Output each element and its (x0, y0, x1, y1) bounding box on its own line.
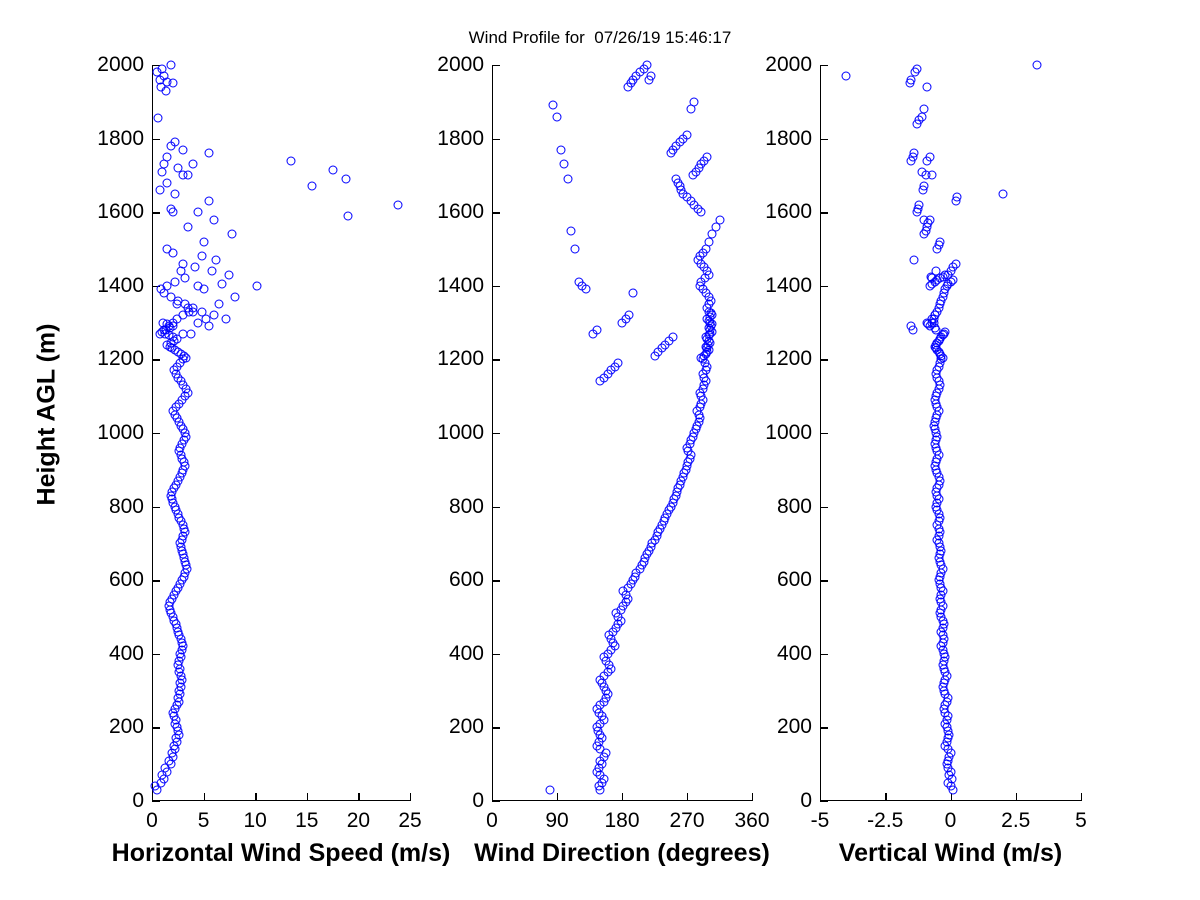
y-tick-label-horizontal-wind-speed-10: 2000 (82, 53, 144, 77)
data-point (178, 145, 187, 154)
y-tick-label-horizontal-wind-speed-4: 800 (82, 495, 144, 519)
y-tick-label-vertical-wind-9: 1800 (750, 127, 812, 151)
x-axis-label-vertical-wind: Vertical Wind (m/s) (839, 839, 1062, 868)
y-tick-label-wind-direction-9: 1800 (422, 127, 484, 151)
data-point (194, 281, 203, 290)
x-tick-label-horizontal-wind-speed-3: 15 (295, 809, 318, 833)
data-point (207, 267, 216, 276)
y-axis-label: Height AGL (m) (33, 285, 62, 545)
data-point (307, 182, 316, 191)
y-tick-label-horizontal-wind-speed-5: 1000 (82, 421, 144, 445)
data-point (920, 182, 929, 191)
y-tick-label-horizontal-wind-speed-1: 200 (82, 715, 144, 739)
x-tick-label-vertical-wind-2: 0 (945, 809, 957, 833)
data-point (163, 245, 172, 254)
data-point (163, 178, 172, 187)
y-tick-label-vertical-wind-10: 2000 (750, 53, 812, 77)
y-tick-label-horizontal-wind-speed-0: 0 (82, 789, 144, 813)
data-point (915, 200, 924, 209)
x-tick-label-vertical-wind-4: 5 (1075, 809, 1087, 833)
data-point (344, 211, 353, 220)
x-tick-label-horizontal-wind-speed-0: 0 (146, 809, 158, 833)
data-point (154, 114, 163, 123)
y-tick-vertical-wind-0 (820, 801, 828, 802)
y-tick-label-vertical-wind-8: 1600 (750, 200, 812, 224)
x-tick-label-horizontal-wind-speed-5: 25 (398, 809, 421, 833)
data-point (953, 193, 962, 202)
y-tick-label-vertical-wind-7: 1400 (750, 274, 812, 298)
x-tick-label-vertical-wind-1: -2.5 (867, 809, 903, 833)
data-point (158, 167, 167, 176)
data-point (553, 112, 562, 121)
data-point (191, 263, 200, 272)
data-point (287, 156, 296, 165)
data-point (228, 230, 237, 239)
x-tick-label-vertical-wind-0: -5 (811, 809, 830, 833)
data-point (912, 64, 921, 73)
y-tick-label-horizontal-wind-speed-8: 1600 (82, 200, 144, 224)
x-axis-label-horizontal-wind-speed: Horizontal Wind Speed (m/s) (112, 839, 451, 868)
data-point (209, 311, 218, 320)
data-point (951, 259, 960, 268)
data-point (328, 165, 337, 174)
data-point (625, 311, 634, 320)
data-point (189, 160, 198, 169)
data-point (571, 245, 580, 254)
data-point (628, 289, 637, 298)
x-tick-vertical-wind-4 (1081, 793, 1082, 801)
y-tick-label-wind-direction-3: 600 (422, 568, 484, 592)
data-point (614, 359, 623, 368)
y-tick-label-wind-direction-10: 2000 (422, 53, 484, 77)
y-tick-label-wind-direction-7: 1400 (422, 274, 484, 298)
y-tick-label-vertical-wind-5: 1000 (750, 421, 812, 445)
data-point (920, 215, 929, 224)
y-tick-label-wind-direction-0: 0 (422, 789, 484, 813)
data-point (187, 329, 196, 338)
y-tick-label-vertical-wind-3: 600 (750, 568, 812, 592)
y-tick-label-vertical-wind-6: 1200 (750, 347, 812, 371)
x-tick-label-wind-direction-0: 0 (486, 809, 498, 833)
data-point (560, 160, 569, 169)
x-tick-label-vertical-wind-3: 2.5 (1001, 809, 1030, 833)
data-point (253, 281, 262, 290)
data-markers-wind-direction (492, 65, 752, 801)
x-tick-label-wind-direction-2: 180 (604, 809, 639, 833)
figure-title: Wind Profile for 07/26/19 15:46:17 (0, 28, 1200, 48)
data-point (184, 222, 193, 231)
data-markers-vertical-wind (820, 65, 1081, 801)
data-point (909, 256, 918, 265)
x-tick-label-wind-direction-3: 270 (669, 809, 704, 833)
y-tick-label-horizontal-wind-speed-2: 400 (82, 642, 144, 666)
data-point (197, 307, 206, 316)
data-point (176, 267, 185, 276)
data-point (204, 322, 213, 331)
data-point (209, 215, 218, 224)
data-point (928, 171, 937, 180)
data-point (199, 237, 208, 246)
data-point (703, 153, 712, 162)
y-tick-wind-direction-0 (492, 801, 500, 802)
data-point (197, 252, 206, 261)
data-point (842, 72, 851, 81)
data-point (545, 785, 554, 794)
data-point (204, 197, 213, 206)
data-point (646, 72, 655, 81)
y-tick-label-horizontal-wind-speed-3: 600 (82, 568, 144, 592)
data-point (173, 164, 182, 173)
data-point (163, 153, 172, 162)
data-point (204, 149, 213, 158)
y-tick-label-vertical-wind-1: 200 (750, 715, 812, 739)
x-axis-label-wind-direction: Wind Direction (degrees) (474, 839, 770, 868)
data-point (170, 278, 179, 287)
y-tick-label-horizontal-wind-speed-6: 1200 (82, 347, 144, 371)
data-point (166, 61, 175, 70)
data-point (215, 300, 224, 309)
data-point (168, 208, 177, 217)
data-point (930, 311, 939, 320)
y-tick-label-wind-direction-1: 200 (422, 715, 484, 739)
data-point (941, 327, 950, 336)
data-point (683, 130, 692, 139)
y-tick-label-wind-direction-6: 1200 (422, 347, 484, 371)
x-tick-horizontal-wind-speed-5 (410, 793, 411, 801)
data-point (936, 237, 945, 246)
data-point (194, 208, 203, 217)
data-point (907, 322, 916, 331)
data-markers-horizontal-wind-speed (152, 65, 410, 801)
panel-wind-direction: 0901802703600200400600800100012001400160… (492, 65, 752, 801)
data-point (998, 189, 1007, 198)
y-tick-label-horizontal-wind-speed-9: 1800 (82, 127, 144, 151)
data-point (668, 333, 677, 342)
data-point (563, 175, 572, 184)
x-tick-label-wind-direction-1: 90 (545, 809, 568, 833)
x-tick-label-horizontal-wind-speed-1: 5 (198, 809, 210, 833)
data-point (170, 189, 179, 198)
x-tick-label-horizontal-wind-speed-2: 10 (244, 809, 267, 833)
data-point (556, 145, 565, 154)
data-point (222, 314, 231, 323)
data-point (672, 175, 681, 184)
panel-horizontal-wind-speed: 0510152025020040060080010001200140016001… (152, 65, 410, 801)
wind-profile-figure: Wind Profile for 07/26/19 15:46:17 Heigh… (0, 0, 1200, 900)
y-tick-label-wind-direction-8: 1600 (422, 200, 484, 224)
data-point (690, 97, 699, 106)
data-point (230, 292, 239, 301)
data-point (156, 186, 165, 195)
data-point (184, 171, 193, 180)
data-point (909, 149, 918, 158)
data-point (170, 138, 179, 147)
y-tick-label-wind-direction-5: 1000 (422, 421, 484, 445)
data-point (567, 226, 576, 235)
data-point (592, 325, 601, 334)
panel-vertical-wind: -5-2.502.5502004006008001000120014001600… (820, 65, 1081, 801)
data-point (342, 175, 351, 184)
data-point (925, 153, 934, 162)
y-tick-label-horizontal-wind-speed-7: 1400 (82, 274, 144, 298)
y-tick-label-vertical-wind-4: 800 (750, 495, 812, 519)
data-point (189, 307, 198, 316)
data-point (218, 279, 227, 288)
y-tick-label-wind-direction-2: 400 (422, 642, 484, 666)
data-point (920, 105, 929, 114)
data-point (932, 267, 941, 276)
data-point (172, 300, 181, 309)
data-point (923, 83, 932, 92)
data-point (917, 167, 926, 176)
data-point (643, 61, 652, 70)
y-tick-horizontal-wind-speed-0 (152, 801, 160, 802)
data-point (574, 278, 583, 287)
data-point (393, 200, 402, 209)
data-point (211, 256, 220, 265)
y-tick-label-vertical-wind-2: 400 (750, 642, 812, 666)
data-point (225, 270, 234, 279)
data-point (1032, 61, 1041, 70)
data-point (549, 101, 558, 110)
y-tick-label-wind-direction-4: 800 (422, 495, 484, 519)
data-point (715, 215, 724, 224)
y-tick-label-vertical-wind-0: 0 (750, 789, 812, 813)
x-tick-label-horizontal-wind-speed-4: 20 (347, 809, 370, 833)
